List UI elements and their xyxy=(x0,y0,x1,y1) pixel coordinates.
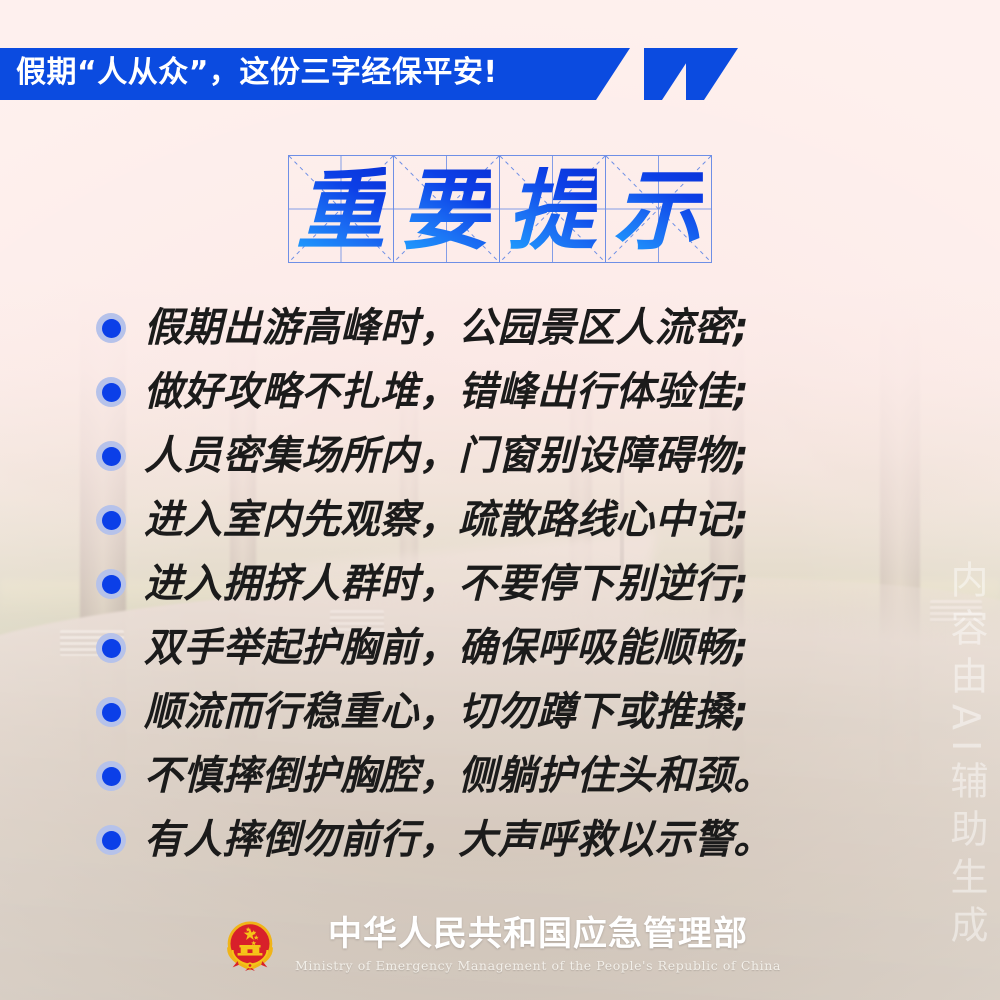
list-item: 不慎摔倒护胸腔，侧躺护住头和颈。 xyxy=(0,744,1000,808)
tip-text: 进入拥挤人群时，不要停下别逆行; xyxy=(144,564,749,604)
tips-list: 假期出游高峰时，公园景区人流密; 做好攻略不扎堆，错峰出行体验佳; 人员密集场所… xyxy=(0,296,1000,872)
page-title: 重 要 提 示 xyxy=(0,155,1000,263)
list-item: 进入拥挤人群时，不要停下别逆行; xyxy=(0,552,1000,616)
ministry-name-cn: 中华人民共和国应急管理部 xyxy=(328,917,748,953)
tip-text: 顺流而行稳重心，切勿蹲下或推搡; xyxy=(144,692,749,732)
title-char-4: 示 xyxy=(614,167,704,255)
tip-text: 双手举起护胸前，确保呼吸能顺畅; xyxy=(144,628,749,668)
list-item: 顺流而行稳重心，切勿蹲下或推搡; xyxy=(0,680,1000,744)
ministry-name-en: Ministry of Emergency Management of the … xyxy=(295,958,781,973)
tip-text: 假期出游高峰时，公园景区人流密; xyxy=(144,308,749,348)
footer: 中华人民共和国应急管理部 Ministry of Emergency Manag… xyxy=(0,914,1000,976)
list-item: 做好攻略不扎堆，错峰出行体验佳; xyxy=(0,360,1000,424)
tip-text: 有人摔倒勿前行，大声呼救以示警。 xyxy=(144,820,773,860)
tip-text: 进入室内先观察，疏散路线心中记; xyxy=(144,500,749,540)
title-char-1: 重 xyxy=(296,167,386,255)
poster-canvas: 假期“人从众”，这份三字经保平安! 重 要 提 xyxy=(0,0,1000,1000)
tip-text: 人员密集场所内，门窗别设障碍物; xyxy=(144,436,749,476)
bullet-icon xyxy=(96,825,126,855)
bullet-icon xyxy=(96,569,126,599)
bullet-icon xyxy=(96,313,126,343)
list-item: 假期出游高峰时，公园景区人流密; xyxy=(0,296,1000,360)
bullet-icon xyxy=(96,761,126,791)
list-item: 双手举起护胸前，确保呼吸能顺畅; xyxy=(0,616,1000,680)
tip-text: 做好攻略不扎堆，错峰出行体验佳; xyxy=(144,372,749,412)
tip-text: 不慎摔倒护胸腔，侧躺护住头和颈。 xyxy=(144,756,773,796)
title-char-3: 提 xyxy=(508,167,598,255)
list-item: 进入室内先观察，疏散路线心中记; xyxy=(0,488,1000,552)
footer-text-group: 中华人民共和国应急管理部 Ministry of Emergency Manag… xyxy=(295,917,781,973)
list-item: 有人摔倒勿前行，大声呼救以示警。 xyxy=(0,808,1000,872)
title-grid-cell: 重 xyxy=(288,155,394,263)
bullet-icon xyxy=(96,377,126,407)
list-item: 人员密集场所内，门窗别设障碍物; xyxy=(0,424,1000,488)
bullet-icon xyxy=(96,633,126,663)
title-char-2: 要 xyxy=(402,167,492,255)
title-grid-cell: 示 xyxy=(606,155,712,263)
national-emblem-icon xyxy=(219,914,281,976)
bullet-icon xyxy=(96,505,126,535)
bullet-icon xyxy=(96,441,126,471)
bullet-icon xyxy=(96,697,126,727)
title-grid-cell: 提 xyxy=(500,155,606,263)
title-grid-cell: 要 xyxy=(394,155,500,263)
